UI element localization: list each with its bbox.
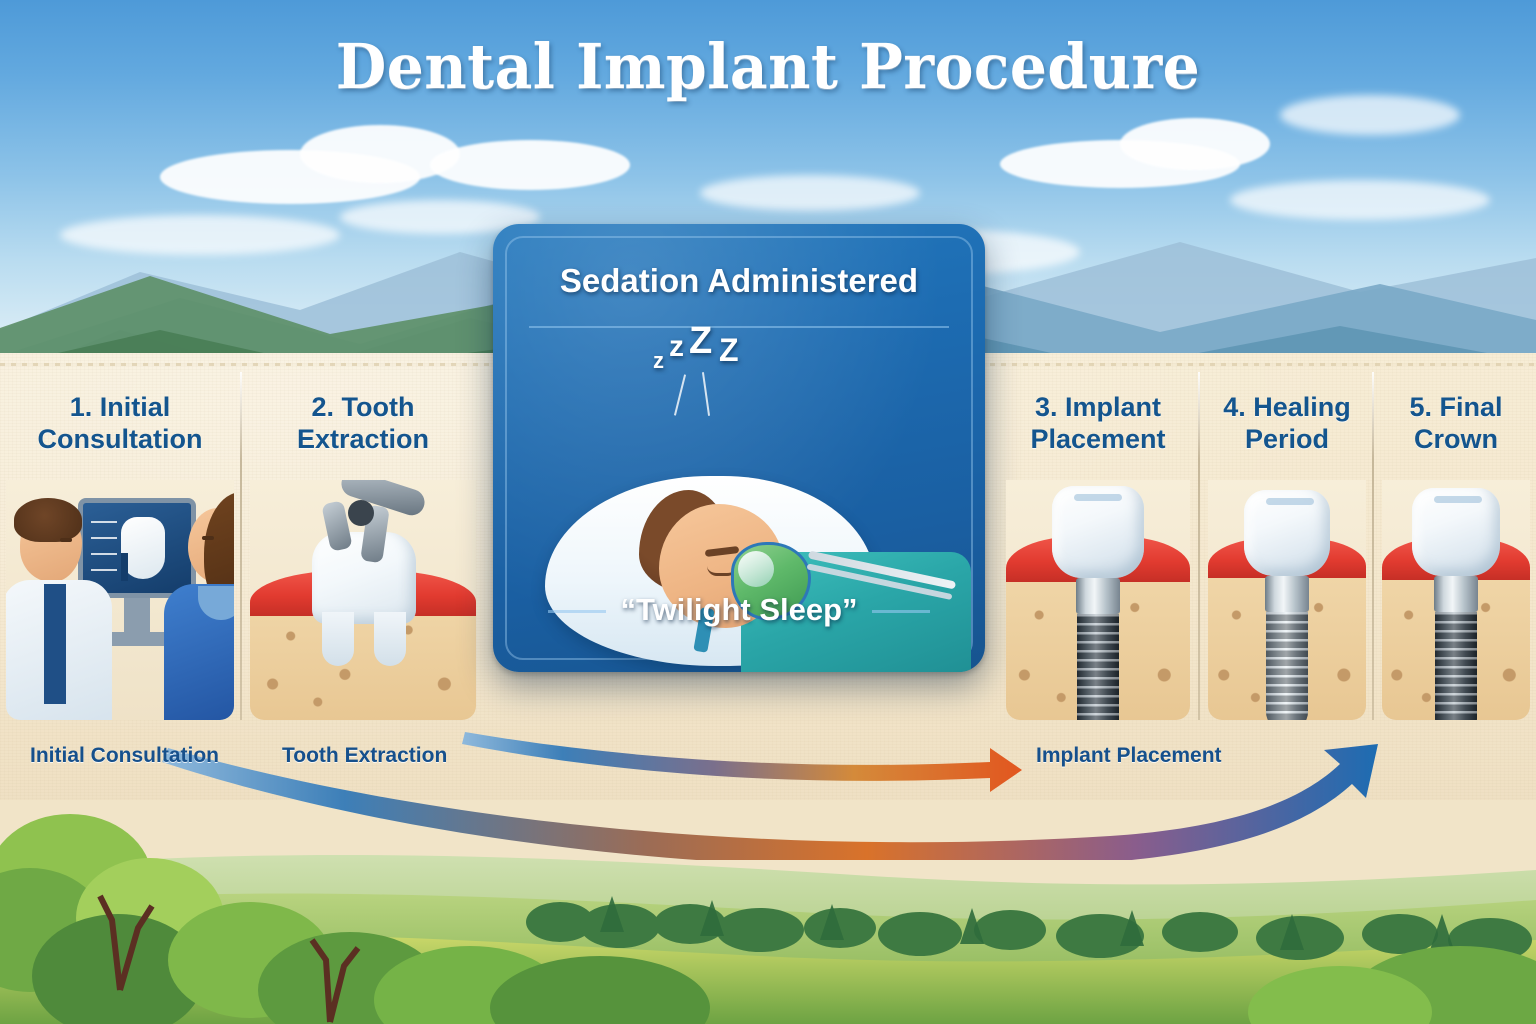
crown-part: [1412, 488, 1500, 576]
step-2-heading-line1: 2. Tooth: [244, 392, 482, 424]
healing-period-scene: [1208, 480, 1366, 720]
step-4-heading-line1: 4. Healing: [1202, 392, 1372, 424]
final-crown-scene: [1382, 480, 1530, 720]
implant-assembly: [1244, 490, 1330, 720]
implant-assembly: [1412, 488, 1500, 720]
sedation-card-caption: “Twilight Sleep”: [493, 592, 985, 628]
zzz-small-icon: z: [653, 348, 664, 374]
step-3-heading-line1: 3. Implant: [1000, 392, 1196, 424]
crown-part: [1052, 486, 1144, 578]
implant-assembly: [1052, 486, 1144, 720]
forceps-icon: [320, 480, 440, 560]
step-panel-2[interactable]: 2. Tooth Extraction: [244, 370, 482, 720]
step-panel-1[interactable]: 1. Initial Consultation: [0, 370, 240, 720]
flow-label-1: Initial Consultation: [30, 744, 219, 768]
step-panel-5[interactable]: 5. Final Crown: [1376, 370, 1536, 720]
step-4-heading: 4. Healing Period: [1202, 392, 1372, 456]
zzz-line: [674, 374, 686, 415]
panel-divider-1: [240, 372, 242, 720]
abutment-part: [1434, 576, 1478, 612]
sleeping-patient-illustration: z z Z Z: [493, 334, 985, 594]
step-panel-4[interactable]: 4. Healing Period: [1202, 370, 1372, 720]
step-1-heading: 1. Initial Consultation: [0, 392, 240, 456]
consultation-scene: [6, 480, 234, 720]
flow-arrow-upper: [462, 732, 1022, 792]
step-5-heading-line1: 5. Final: [1376, 392, 1536, 424]
infographic-canvas: Dental Implant Procedure 1. Initial Cons…: [0, 0, 1536, 1024]
zzz-line: [702, 372, 710, 416]
step-1-illustration: [6, 480, 234, 720]
panel-divider-4: [1372, 372, 1374, 720]
step-2-illustration: [250, 480, 476, 720]
flow-label-2: Tooth Extraction: [282, 744, 447, 768]
step-1-heading-line1: 1. Initial: [0, 392, 240, 424]
sedation-card-rule: [529, 326, 949, 328]
panel-divider-3: [1198, 372, 1200, 720]
crown-part: [1244, 490, 1330, 576]
step-3-illustration: [1006, 480, 1190, 720]
caption-text: “Twilight Sleep”: [620, 592, 857, 627]
sedation-card-title: Sedation Administered: [493, 262, 985, 300]
mask-highlight: [738, 551, 774, 587]
cloud-shape: [300, 125, 460, 183]
patient-figure: [170, 488, 234, 720]
page-title: Dental Implant Procedure: [46, 30, 1490, 103]
cloud-shape: [1120, 118, 1270, 170]
step-panel-3[interactable]: 3. Implant Placement: [1000, 370, 1196, 720]
step-2-heading-line2: Extraction: [244, 424, 482, 456]
monitor-stand: [124, 598, 150, 634]
step-5-heading: 5. Final Crown: [1376, 392, 1536, 456]
step-1-heading-line2: Consultation: [0, 424, 240, 456]
zzz-medium-icon: z: [669, 330, 684, 364]
implant-placement-scene: [1006, 480, 1190, 720]
step-5-heading-line2: Crown: [1376, 424, 1536, 456]
step-4-heading-line2: Period: [1202, 424, 1372, 456]
sedation-card[interactable]: Sedation Administered z z Z Z: [493, 224, 985, 672]
step-2-heading: 2. Tooth Extraction: [244, 392, 482, 456]
step-3-heading: 3. Implant Placement: [1000, 392, 1196, 456]
step-5-illustration: [1382, 480, 1530, 720]
step-4-illustration: [1208, 480, 1366, 720]
caption-dash-right: [872, 610, 930, 613]
process-flow-arrows: Initial Consultation Tooth Extraction Im…: [0, 700, 1536, 860]
zzz-xlarge-icon: Z: [719, 332, 739, 369]
extraction-scene: [250, 480, 476, 720]
step-3-heading-line2: Placement: [1000, 424, 1196, 456]
caption-dash-left: [548, 610, 606, 613]
abutment-part: [1265, 576, 1309, 612]
abutment-part: [1076, 578, 1120, 614]
flow-label-3: Implant Placement: [1036, 744, 1222, 768]
zzz-large-icon: Z: [689, 320, 712, 363]
dentist-figure: [8, 494, 104, 720]
